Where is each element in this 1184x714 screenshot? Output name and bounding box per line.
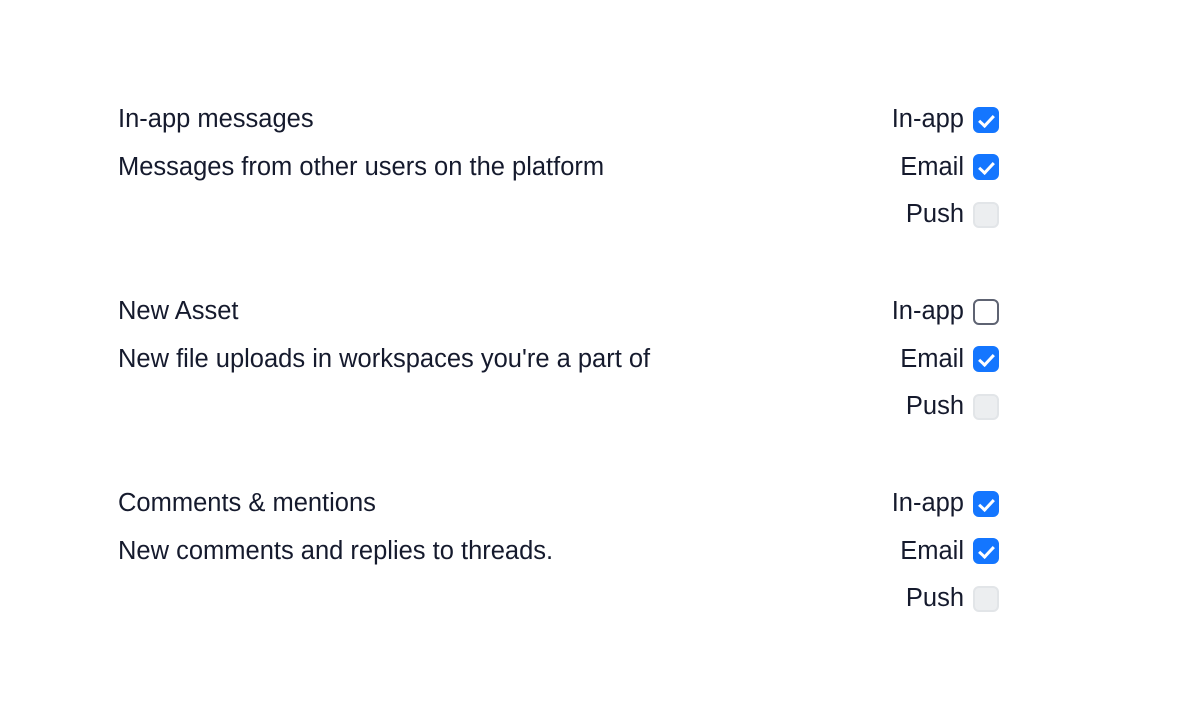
channel-label: Email	[900, 336, 964, 384]
channel-label: In-app	[892, 480, 964, 528]
channel-checkbox-in-app[interactable]	[973, 299, 999, 325]
channel-row-push: Push	[906, 191, 999, 239]
channel-list: In-app Email Push	[892, 480, 999, 623]
channel-row-in-app: In-app	[892, 288, 999, 336]
channel-row-email: Email	[900, 336, 999, 384]
channel-label: Push	[906, 191, 964, 239]
channel-row-in-app: In-app	[892, 480, 999, 528]
preference-title: In-app messages	[118, 96, 604, 144]
channel-label: Push	[906, 575, 964, 623]
preference-title: Comments & mentions	[118, 480, 553, 528]
preference-group: In-app messages Messages from other user…	[118, 96, 999, 239]
preference-group: New Asset New file uploads in workspaces…	[118, 288, 999, 431]
preference-text-block: New Asset New file uploads in workspaces…	[118, 288, 650, 383]
preference-text-block: In-app messages Messages from other user…	[118, 96, 604, 191]
preference-description: Messages from other users on the platfor…	[118, 144, 604, 192]
channel-checkbox-push	[973, 202, 999, 228]
channel-label: Email	[900, 144, 964, 192]
channel-row-push: Push	[906, 383, 999, 431]
channel-row-in-app: In-app	[892, 96, 999, 144]
channel-checkbox-email[interactable]	[973, 154, 999, 180]
preference-description: New comments and replies to threads.	[118, 528, 553, 576]
channel-label: In-app	[892, 96, 964, 144]
channel-row-email: Email	[900, 144, 999, 192]
preference-text-block: Comments & mentions New comments and rep…	[118, 480, 553, 575]
channel-label: In-app	[892, 288, 964, 336]
channel-checkbox-in-app[interactable]	[973, 491, 999, 517]
channel-checkbox-push	[973, 586, 999, 612]
channel-checkbox-email[interactable]	[973, 346, 999, 372]
channel-row-push: Push	[906, 575, 999, 623]
preference-description: New file uploads in workspaces you're a …	[118, 336, 650, 384]
channel-list: In-app Email Push	[892, 96, 999, 239]
channel-checkbox-email[interactable]	[973, 538, 999, 564]
channel-list: In-app Email Push	[892, 288, 999, 431]
channel-label: Email	[900, 528, 964, 576]
preference-group: Comments & mentions New comments and rep…	[118, 480, 999, 623]
channel-checkbox-push	[973, 394, 999, 420]
channel-checkbox-in-app[interactable]	[973, 107, 999, 133]
channel-row-email: Email	[900, 528, 999, 576]
preference-title: New Asset	[118, 288, 650, 336]
notification-preferences-panel: In-app messages Messages from other user…	[0, 0, 1184, 714]
channel-label: Push	[906, 383, 964, 431]
